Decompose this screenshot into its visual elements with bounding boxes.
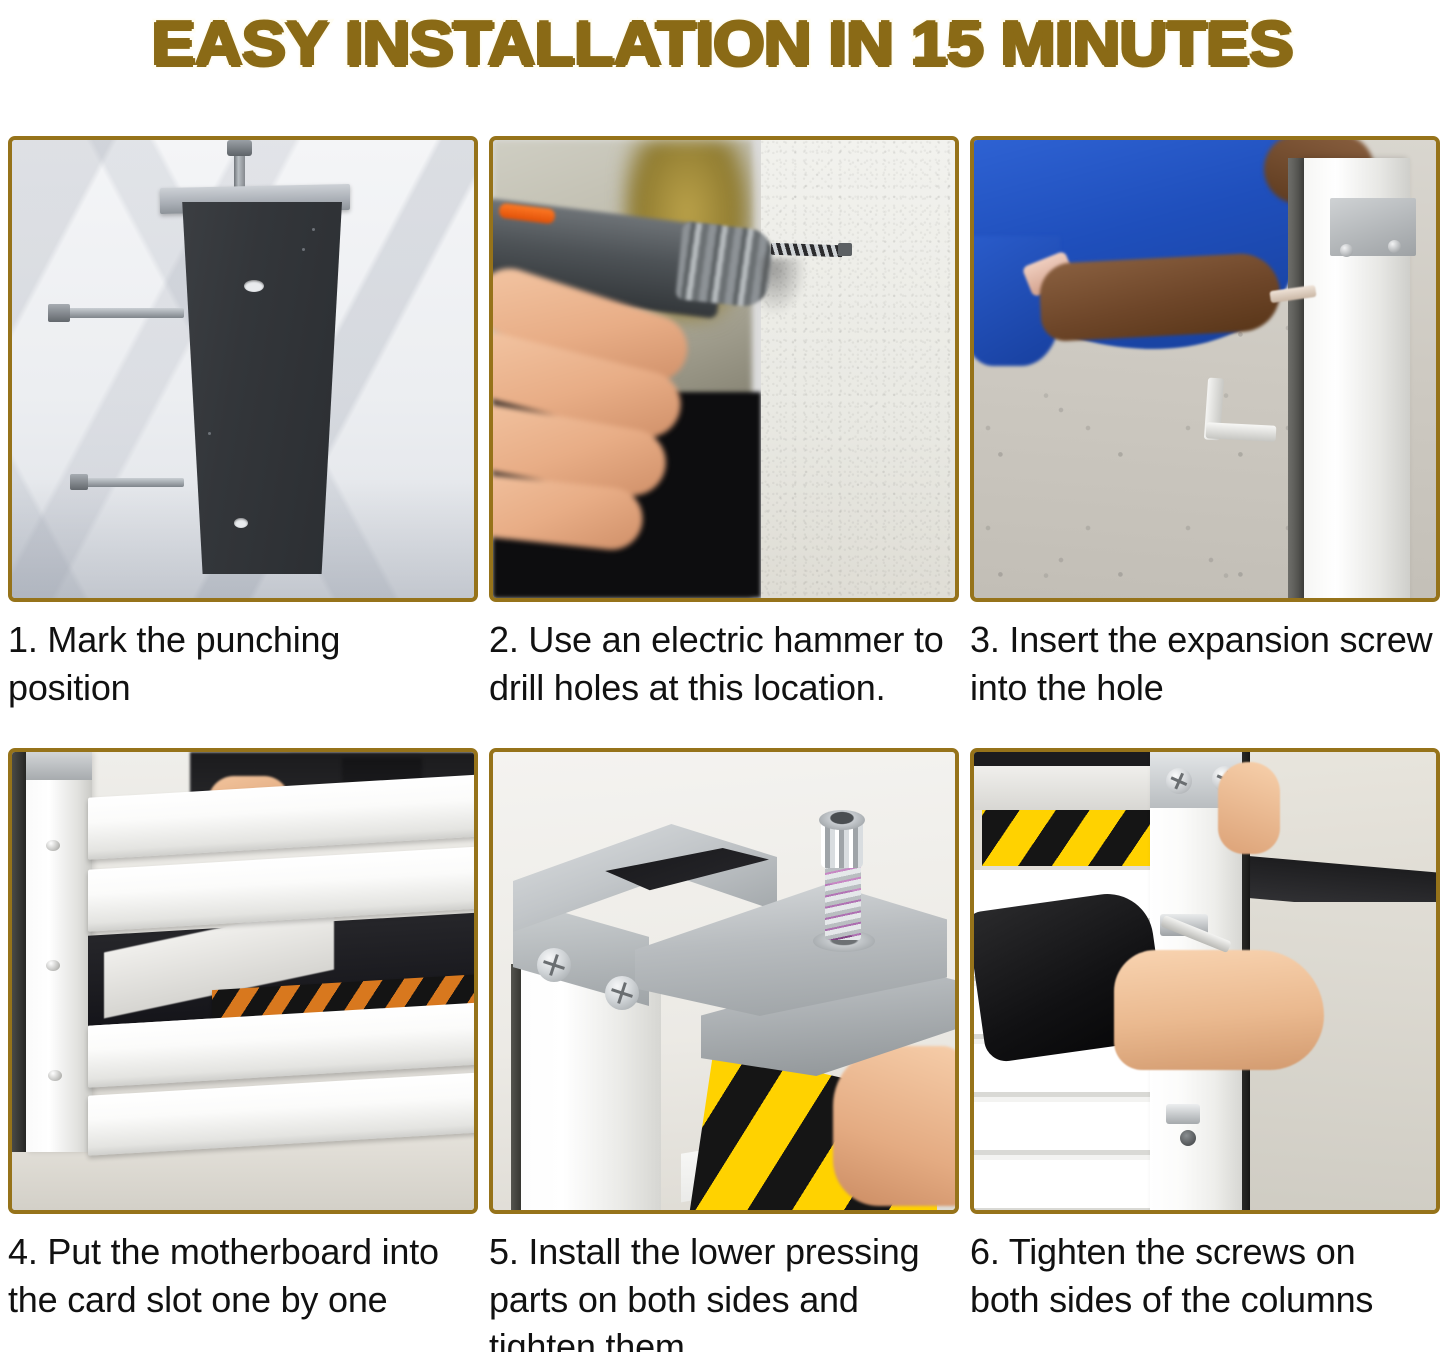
template-speck-3 [208, 432, 211, 435]
drill-bit-tip [838, 243, 852, 256]
column-bolt-lower-hole [1180, 1130, 1196, 1146]
worker-forearm [1038, 252, 1282, 342]
chrome-bolt-socket-head [819, 810, 865, 830]
template-hole-lower [234, 518, 248, 528]
left-white-column [26, 752, 92, 1152]
step-1-caption: 1. Mark the punching position [8, 606, 478, 748]
left-column-top-bracket [26, 752, 92, 780]
step-6-photo-cell [970, 748, 1440, 1218]
title-bar: EASY INSTALLATION IN 15 MINUTES [0, 2, 1445, 86]
template-hole-upper [244, 280, 264, 292]
photo-frame-2 [489, 136, 959, 602]
photo-frame-5 [489, 748, 959, 1214]
photo-frame-6 [970, 748, 1440, 1214]
phillips-screw-2 [605, 976, 639, 1010]
column-screw-3 [48, 1070, 62, 1081]
photo-tighten-column-screws [974, 752, 1436, 1210]
photo-frame-1 [8, 136, 478, 602]
board-above-hazard [974, 766, 1164, 810]
step-3-caption: 3. Insert the expansion screw into the h… [970, 606, 1440, 748]
template-bolt-lower [74, 478, 184, 487]
target-wall-surface [761, 140, 955, 598]
photo-install-pressing-parts [493, 752, 955, 1210]
step-5-photo-cell [489, 748, 959, 1218]
worker-hand [833, 1046, 955, 1206]
step-5-caption: 5. Install the lower pressing parts on b… [489, 1218, 959, 1348]
worker-hand-with-wrench [1114, 950, 1324, 1070]
template-speck-2 [302, 248, 305, 251]
column-screw-2 [46, 960, 60, 971]
hazard-stripe-tape [982, 804, 1158, 866]
template-bolt-lower-head [70, 474, 88, 490]
photo-frame-4 [8, 748, 478, 1214]
step-2-photo-cell [489, 136, 959, 606]
template-bolt-upper [52, 308, 184, 318]
photo-insert-boards [12, 752, 474, 1210]
step-1-photo-cell [8, 136, 478, 606]
plate-screw-1 [1340, 244, 1353, 257]
photo-insert-expansion-screw [974, 140, 1436, 598]
drill-dust-cloud [761, 258, 807, 316]
step-4-photo-cell [8, 748, 478, 1218]
template-top-stud-cap [227, 140, 252, 156]
step-3-photo-cell [970, 136, 1440, 606]
template-speck-1 [312, 228, 315, 231]
column-bolt-lower [1166, 1104, 1200, 1124]
column-top-screw-1 [1166, 768, 1192, 794]
worker-thumb [1218, 762, 1280, 854]
bolt-threaded-shaft [825, 864, 861, 940]
photo-drill-holes [493, 140, 955, 598]
infographic-page: EASY INSTALLATION IN 15 MINUTES [0, 0, 1445, 1352]
template-bolt-upper-head [48, 304, 70, 322]
operator-hand [493, 290, 723, 590]
plate-screw-2 [1388, 240, 1401, 253]
step-6-caption: 6. Tighten the screws on both sides of t… [970, 1218, 1440, 1348]
step-2-caption: 2. Use an electric hammer to drill holes… [489, 606, 959, 748]
photo-mark-punching-position [12, 140, 474, 598]
step-4-caption: 4. Put the motherboard into the card slo… [8, 1218, 478, 1348]
column-screw-1 [46, 840, 60, 851]
page-title: EASY INSTALLATION IN 15 MINUTES [152, 9, 1293, 80]
masonry-drill-bit [771, 243, 843, 258]
steps-grid: 1. Mark the punching position 2. Use an … [8, 136, 1440, 1348]
photo-frame-3 [970, 136, 1440, 602]
phillips-screw-1 [537, 948, 571, 982]
